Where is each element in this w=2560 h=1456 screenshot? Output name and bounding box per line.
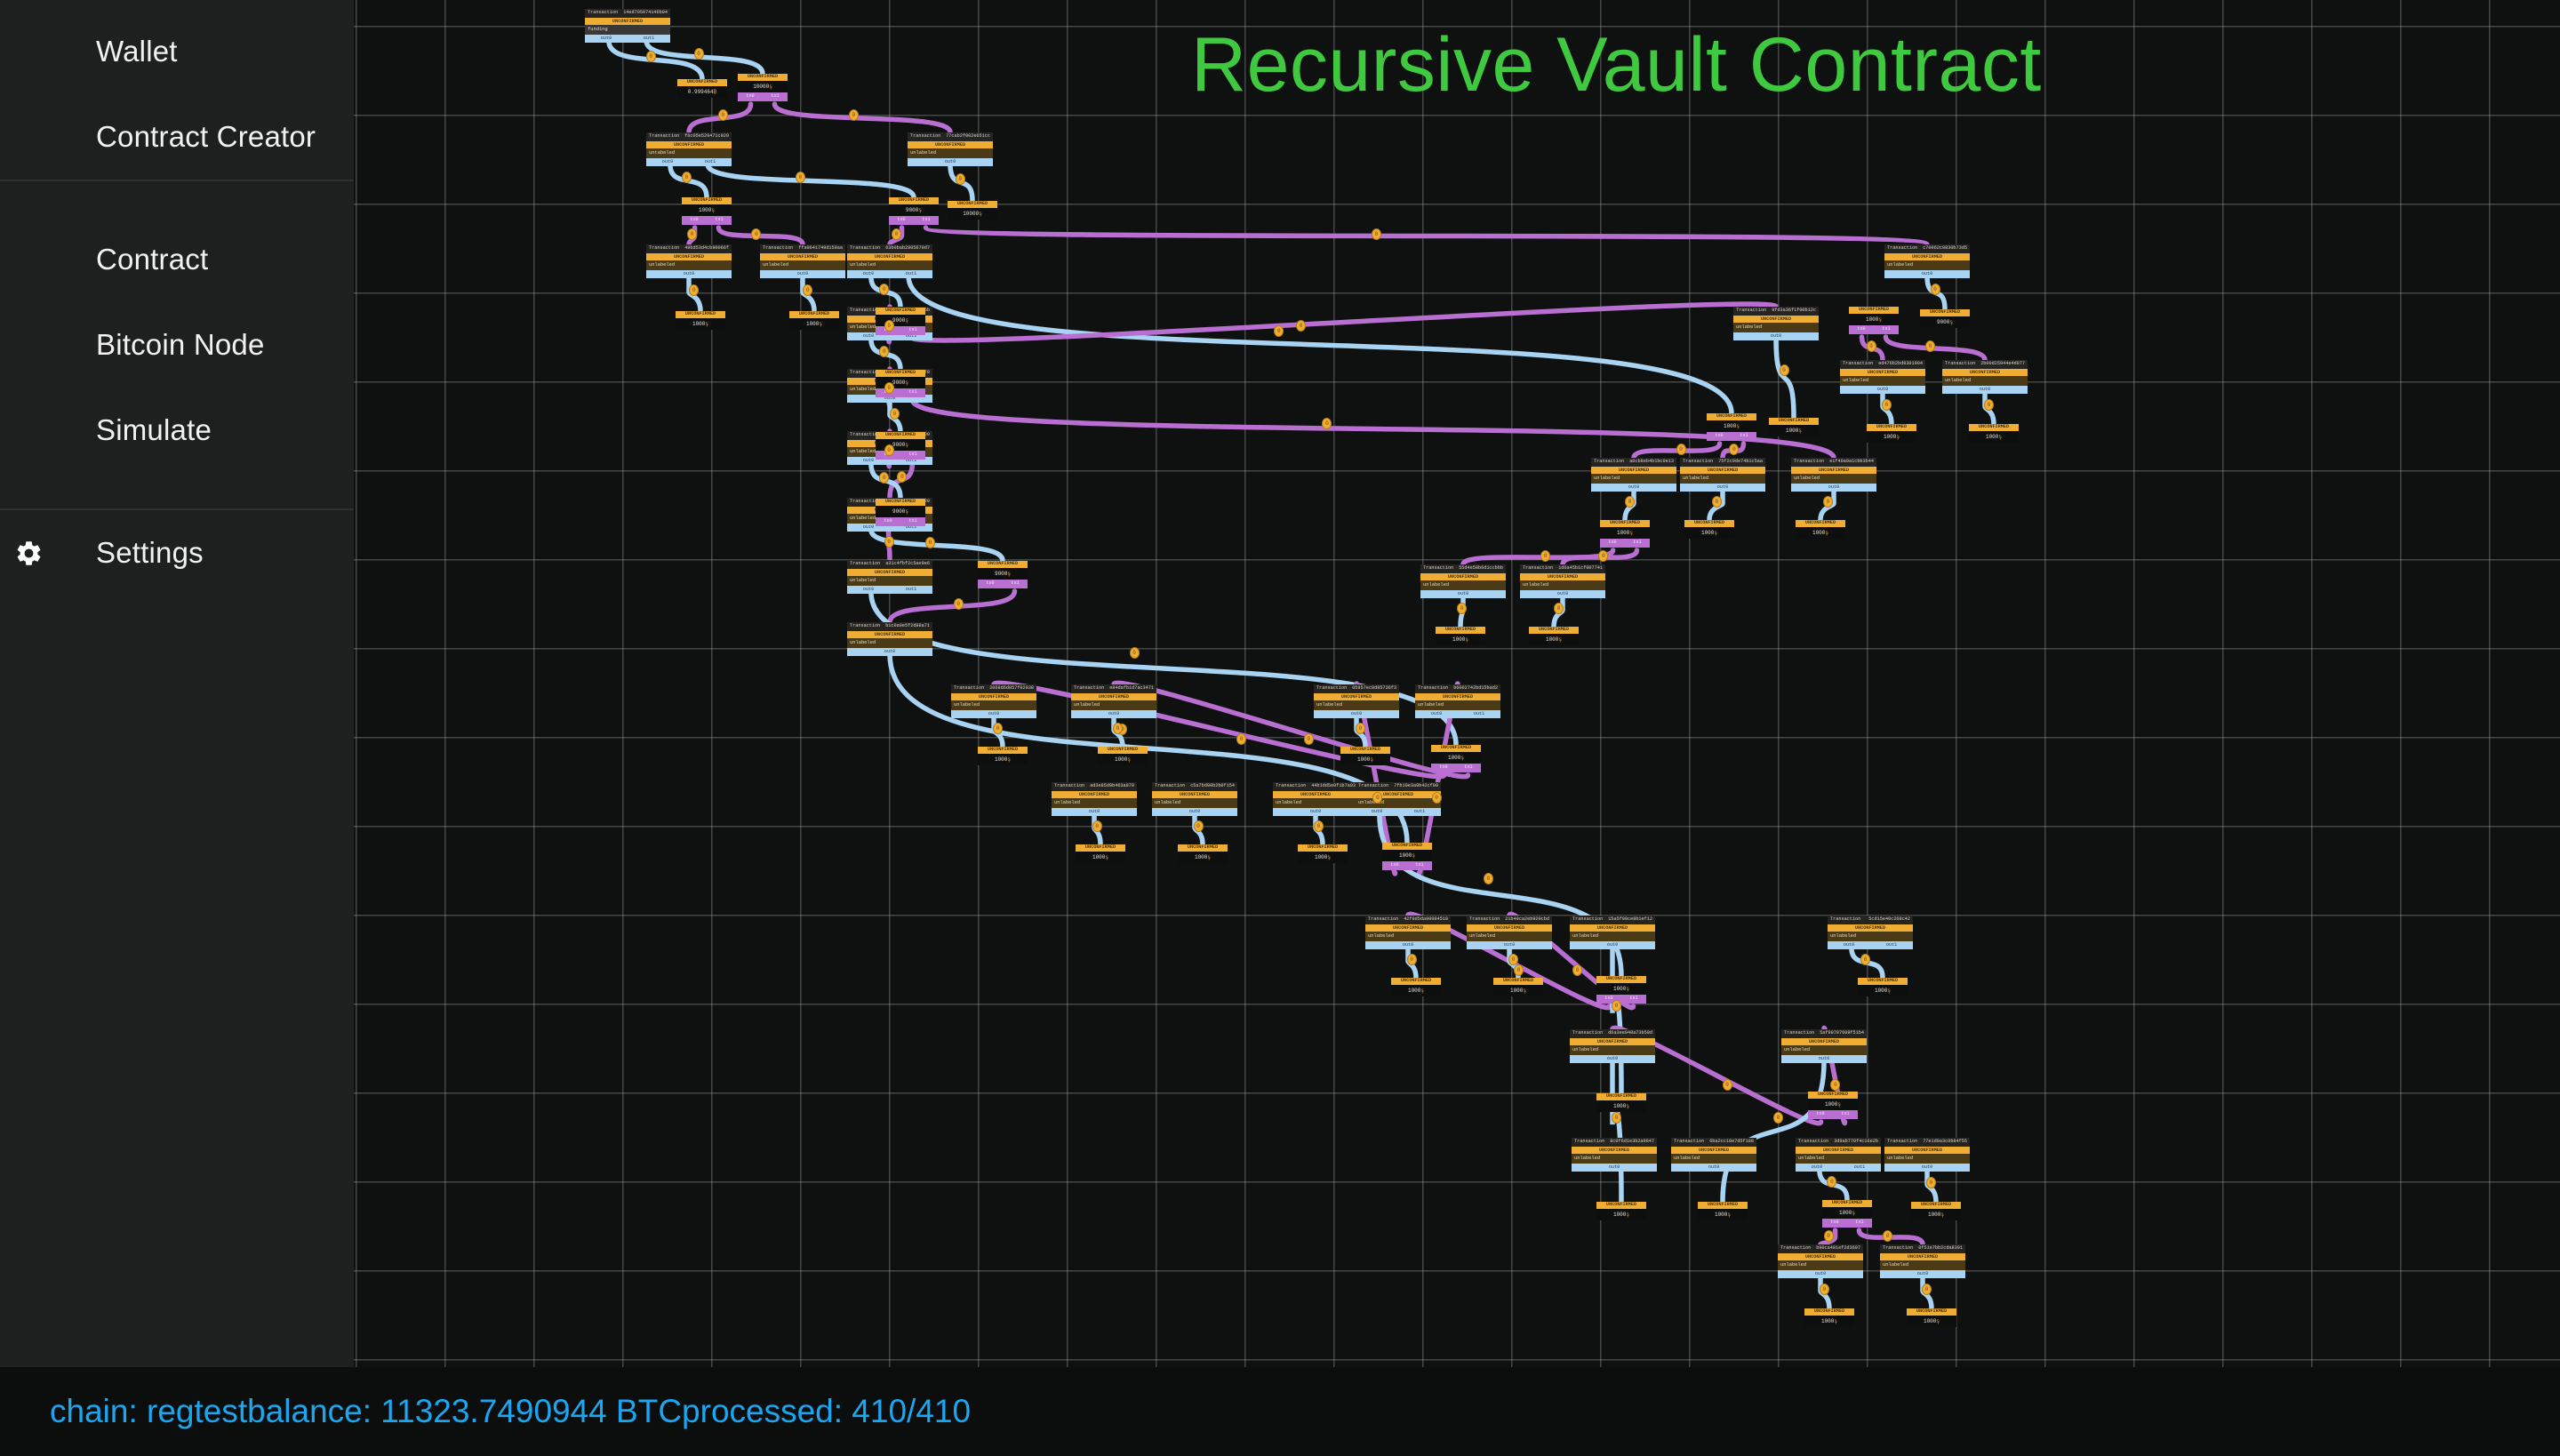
transaction-prefix: Transaction — [1736, 308, 1766, 313]
status-badge: UNCONFIRMED — [1273, 791, 1358, 798]
currency-symbol: ş — [769, 84, 772, 90]
utxo-node[interactable]: UNCONFIRMED1000ştx0tx1 — [1431, 745, 1481, 772]
utxo-amount: 1000 — [806, 321, 819, 327]
utxo-value: 1000ş — [682, 204, 732, 216]
transaction-node[interactable]: Transaction77e1d9a3c0b84f55UNCONFIRMEDun… — [1884, 1138, 1970, 1172]
utxo-node[interactable]: UNCONFIRMED1000ştx0tx1 — [1808, 1092, 1858, 1119]
transaction-node[interactable]: Transaction55d4e58b6d1ccbbbUNCONFIRMEDun… — [1420, 564, 1506, 598]
edge-index-badge: 0 — [1931, 284, 1940, 295]
transaction-header: Transactiona0cb8eb4b1bc0e13 — [1591, 458, 1676, 467]
transaction-header: Transaction8c0f6d1e3b2a9947 — [1572, 1138, 1657, 1147]
transaction-label[interactable]: unlabeled — [1880, 1260, 1965, 1269]
utxo-node[interactable]: UNCONFIRMED1000ş — [1340, 747, 1390, 765]
status-badge: UNCONFIRMED — [1884, 1147, 1970, 1154]
transaction-label[interactable]: funding — [585, 25, 670, 34]
transaction-label[interactable]: unlabeled — [1796, 1154, 1881, 1163]
utxo-node[interactable]: UNCONFIRMED1000ş — [1596, 1093, 1646, 1112]
transaction-label[interactable]: unlabeled — [1420, 580, 1506, 589]
utxo-node[interactable]: UNCONFIRMED9000ştx0tx1 — [978, 561, 1028, 588]
transaction-label[interactable]: unlabeled — [760, 260, 845, 269]
spender-port-0[interactable]: tx0 — [1604, 996, 1612, 1001]
output-port-1[interactable]: out1 — [705, 160, 716, 164]
transaction-label[interactable]: unlabeled — [1415, 700, 1500, 709]
transaction-node[interactable]: Transaction14ed705074146b04UNCONFIRMEDfu… — [585, 9, 670, 43]
transaction-outputs: out0 — [1781, 1055, 1867, 1064]
transaction-outputs: out0 — [1733, 332, 1819, 341]
edge-index-badge: 0 — [1356, 723, 1365, 734]
status-badge: UNCONFIRMED — [1684, 520, 1734, 527]
output-port-0[interactable]: out0 — [863, 334, 874, 339]
transaction-label[interactable]: unlabeled — [646, 260, 732, 269]
transaction-node[interactable]: Transaction49bd53d4cb90066fUNCONFIRMEDun… — [646, 244, 732, 278]
transaction-node[interactable]: Transaction7fb10e3a9b42cf00UNCONFIRMEDun… — [1356, 782, 1441, 816]
sidebar-item-contract-creator[interactable]: Contract Creator — [0, 94, 354, 180]
transaction-label[interactable]: unlabeled — [1840, 376, 1925, 385]
output-port-0[interactable]: out0 — [1771, 334, 1781, 339]
edge-index-badge: 0 — [892, 228, 901, 240]
transaction-label[interactable]: untabeled — [646, 148, 732, 157]
transaction-label[interactable]: unlabeled — [1314, 700, 1399, 709]
edge-index-badge: 0 — [884, 320, 894, 332]
output-port-1[interactable]: out1 — [1886, 943, 1897, 948]
output-port-1[interactable]: out1 — [1474, 712, 1484, 716]
currency-symbol: ş — [1523, 988, 1526, 994]
status-badge: UNCONFIRMED — [951, 693, 1036, 700]
spender-port-0[interactable]: tx0 — [986, 581, 994, 586]
spender-port-0[interactable]: tx0 — [1830, 1220, 1838, 1225]
transaction-label[interactable]: unlabeled — [1052, 798, 1137, 807]
status-badge: UNCONFIRMED — [1098, 747, 1148, 754]
utxo-value: 9000ş — [876, 506, 925, 517]
transaction-prefix: Transaction — [1368, 917, 1398, 922]
transaction-outputs: out0 — [760, 270, 845, 279]
output-port-0[interactable]: out0 — [1922, 1165, 1932, 1170]
utxo-node[interactable]: UNCONFIRMED10000ş — [948, 201, 997, 220]
output-port-0[interactable]: out0 — [1504, 943, 1515, 948]
utxo-value: 1000ş — [1596, 1100, 1646, 1112]
utxo-node[interactable]: UNCONFIRMED1000ştx0tx1 — [1600, 520, 1650, 548]
output-port-0[interactable]: out0 — [684, 272, 694, 276]
utxo-node[interactable]: UNCONFIRMED1000ş — [1391, 978, 1441, 996]
transaction-header: Transactiond6a3ee048a73b50d — [1570, 1029, 1655, 1038]
utxo-amount: 1000 — [1617, 530, 1629, 536]
status-badge: UNCONFIRMED — [1781, 1038, 1867, 1045]
spender-port-1[interactable]: tx1 — [1011, 581, 1019, 586]
utxo-amount: 0.999464 — [688, 89, 714, 95]
utxo-node[interactable]: UNCONFIRMED1000ş — [1529, 627, 1579, 645]
output-port-0[interactable]: out0 — [884, 650, 895, 654]
utxo-value: 9000ş — [889, 204, 939, 216]
transaction-header: Transaction21b49ca2eb920cbd — [1467, 916, 1552, 924]
output-port-0[interactable]: out0 — [1628, 485, 1639, 490]
utxo-value: 0.999464₿ — [677, 86, 727, 98]
utxo-node[interactable]: UNCONFIRMED1000ş — [1969, 424, 2019, 443]
transaction-header: Transaction6ba2cc10e7d5f188 — [1671, 1138, 1756, 1147]
utxo-node[interactable]: UNCONFIRMED9000ştx0tx1 — [876, 432, 925, 460]
transaction-node[interactable]: Transactionf6c05e529471c029UNCONFIRMEDun… — [646, 132, 732, 166]
transaction-node[interactable]: Transaction2068d6d857f02038UNCONFIRMEDun… — [951, 684, 1036, 718]
utxo-node[interactable]: UNCONFIRMED1000ştx0tx1 — [1707, 413, 1756, 441]
status-badge: UNCONFIRMED — [1420, 573, 1506, 580]
output-port-0[interactable]: out0 — [1980, 388, 1990, 392]
output-port-0[interactable]: out0 — [1108, 712, 1119, 716]
edge-index-badge: 0 — [1194, 820, 1204, 832]
transaction-label[interactable]: unlabeled — [1273, 798, 1358, 807]
transaction-label[interactable]: unlabeled — [1942, 376, 2028, 385]
edge-index-badge: 0 — [956, 173, 965, 185]
status-badge: UNCONFIRMED — [1391, 978, 1441, 985]
transaction-node[interactable]: Transaction5af90797609f51b4UNCONFIRMEDun… — [1781, 1029, 1867, 1063]
transaction-node[interactable]: Transaction1d6a45b1cf007741UNCONFIRMEDun… — [1520, 564, 1605, 598]
transaction-header: Transaction05957ec0d85736f3 — [1314, 684, 1399, 693]
transaction-node[interactable]: Transaction44b1dd5e0f1b7a03UNCONFIRMEDun… — [1273, 782, 1358, 816]
transaction-node[interactable]: Transaction75f2c9de74b1c5aaUNCONFIRMEDun… — [1680, 458, 1765, 492]
transaction-label[interactable]: unlabeled — [1680, 474, 1765, 483]
utxo-amount: 1000 — [692, 321, 705, 327]
transaction-header: Transaction63b0bab2805670d7 — [847, 244, 932, 253]
utxo-node[interactable]: UNCONFIRMED1000ştx0tx1 — [1596, 976, 1646, 1004]
output-port-0[interactable]: out0 — [1812, 1165, 1822, 1170]
spender-port-1[interactable]: tx1 — [771, 94, 779, 99]
edge-index-badge: 0 — [1612, 1112, 1621, 1124]
transaction-label[interactable]: unlabeled — [847, 260, 932, 269]
output-port-0[interactable]: out0 — [1431, 712, 1442, 716]
transaction-node[interactable]: Transactionb6002742bd15bad2UNCONFIRMEDun… — [1415, 684, 1500, 718]
spender-port-0[interactable]: tx0 — [1439, 765, 1447, 770]
transaction-hash: c70962c0830b73d5 — [1923, 246, 1967, 251]
currency-symbol: ş — [1896, 434, 1900, 440]
transaction-header: Transaction14ed705074146b04 — [585, 9, 670, 18]
transaction-label[interactable]: unlabeled — [1781, 1045, 1867, 1054]
transaction-node[interactable]: Transactiona31c4fbf2c5ae9e6UNCONFIRMEDun… — [847, 560, 932, 594]
edge-index-badge: 0 — [1372, 228, 1381, 240]
status-badge: UNCONFIRMED — [1867, 424, 1916, 431]
edge-index-badge: 0 — [694, 48, 704, 60]
utxo-node[interactable]: UNCONFIRMED1000ş — [1698, 1202, 1748, 1220]
sidebar-item-wallet[interactable]: Wallet — [0, 9, 354, 94]
status-badge: UNCONFIRMED — [1314, 693, 1399, 700]
transaction-node[interactable]: Transactionc70962c0830b73d5UNCONFIRMEDun… — [1884, 244, 1970, 278]
spender-port-0[interactable]: tx0 — [690, 218, 698, 222]
status-badge: UNCONFIRMED — [1572, 1147, 1657, 1154]
transaction-hash: e1f40a9a1cbb3b44 — [1829, 460, 1874, 464]
output-port-0[interactable]: out0 — [863, 459, 874, 463]
utxo-amount: 1000 — [1452, 636, 1465, 643]
utxo-node[interactable]: UNCONFIRMED1000ştx0tx1 — [1382, 843, 1432, 870]
output-port-0[interactable]: out0 — [863, 272, 874, 276]
output-port-1[interactable]: out1 — [1414, 810, 1425, 814]
transaction-outputs: out0 — [1791, 484, 1876, 492]
transaction-node[interactable]: Transaction5cd15e40c268c42UNCONFIRMEDunl… — [1828, 916, 1913, 949]
output-port-0[interactable]: out0 — [1607, 1057, 1618, 1061]
output-port-0[interactable]: out0 — [1844, 943, 1854, 948]
transaction-outputs: out0 — [1778, 1270, 1863, 1279]
spend-edge — [912, 304, 1776, 340]
transaction-hash: ed476b2bd8301904 — [1878, 362, 1923, 366]
utxo-node[interactable]: UNCONFIRMED1000ş — [1493, 978, 1543, 996]
edge-index-badge: 0 — [890, 408, 900, 420]
spender-port-0[interactable]: tx0 — [1857, 327, 1865, 332]
spender-port-0[interactable]: tx0 — [897, 218, 905, 222]
transaction-node[interactable]: Transaction6ba2cc10e7d5f188UNCONFIRMEDun… — [1671, 1138, 1756, 1172]
spender-port-1[interactable]: tx1 — [1464, 765, 1472, 770]
transaction-label[interactable]: unlabeled — [847, 638, 932, 647]
transaction-node[interactable]: Transactionb90ca481ef2d3607UNCONFIRMEDun… — [1778, 1244, 1863, 1278]
transaction-node[interactable]: Transaction3d9ab770f4c16e2bUNCONFIRMEDun… — [1796, 1138, 1881, 1172]
utxo-node[interactable]: UNCONFIRMED1000ş — [1867, 424, 1916, 443]
currency-symbol: ş — [1940, 1212, 1944, 1218]
transaction-label[interactable]: unlabeled — [1572, 1154, 1657, 1163]
transaction-node[interactable]: Transaction15a5f99ce8b1ef12UNCONFIRMEDun… — [1570, 916, 1655, 949]
edge-index-badge: 0 — [718, 109, 728, 121]
transaction-node[interactable]: Transaction8c0f6d1e3b2a9947UNCONFIRMEDun… — [1572, 1138, 1657, 1172]
output-port-0[interactable]: out0 — [1917, 1272, 1928, 1276]
spender-port-1[interactable]: tx1 — [1633, 540, 1641, 545]
output-port-0[interactable]: out0 — [1609, 1165, 1620, 1170]
status-badge: UNCONFIRMED — [1808, 1092, 1858, 1099]
transaction-label[interactable]: unlabeled — [1071, 700, 1156, 709]
utxo-node[interactable]: UNCONFIRMED1000ş — [789, 311, 839, 330]
output-port-0[interactable]: out0 — [1877, 388, 1888, 392]
transaction-label[interactable]: unlabeled — [1778, 1260, 1863, 1269]
transaction-prefix: Transaction — [1683, 460, 1713, 464]
output-port-0[interactable]: out0 — [945, 160, 956, 164]
spender-port-1[interactable]: tx1 — [715, 218, 723, 222]
utxo-node[interactable]: UNCONFIRMED1000ş — [1076, 844, 1125, 863]
utxo-node[interactable]: UNCONFIRMED1000ş — [1298, 844, 1348, 863]
utxo-node[interactable]: UNCONFIRMED1000ş — [1911, 1202, 1961, 1220]
utxo-amount: 1000 — [699, 207, 711, 213]
transaction-header: Transaction15a5f99ce8b1ef12 — [1570, 916, 1655, 924]
spender-port-1[interactable]: tx1 — [908, 519, 916, 524]
spender-port-1[interactable]: tx1 — [1841, 1112, 1849, 1116]
output-port-0[interactable]: out0 — [1403, 943, 1413, 948]
spender-port-1[interactable]: tx1 — [922, 218, 930, 222]
spender-port-0[interactable]: tx0 — [746, 94, 754, 99]
transaction-node[interactable]: Transactionffa0641749d159aaUNCONFIRMEDun… — [760, 244, 845, 278]
utxo-value: 1000ş — [1707, 420, 1756, 432]
utxo-node[interactable]: UNCONFIRMED1000ş — [1769, 418, 1819, 436]
transaction-prefix: Transaction — [1674, 1140, 1704, 1144]
transaction-hash: 77e1d9a3c0b84f55 — [1923, 1140, 1967, 1144]
spender-port-1[interactable]: tx1 — [1415, 863, 1423, 868]
transaction-node[interactable]: Transaction2b00d25944e4d977UNCONFIRMEDun… — [1942, 360, 2028, 394]
utxo-node[interactable]: UNCONFIRMED9000ş — [1920, 309, 1970, 328]
transaction-label[interactable]: unlabeled — [1671, 1154, 1756, 1163]
output-port-0[interactable]: out0 — [1372, 810, 1382, 814]
transaction-node[interactable]: Transactiona0cb8eb4b1bc0e13UNCONFIRMEDun… — [1591, 458, 1676, 492]
transaction-label[interactable]: unlabeled — [847, 576, 932, 585]
output-port-1[interactable]: out1 — [906, 588, 916, 592]
currency-symbol: ş — [1736, 423, 1740, 429]
spender-port-0[interactable]: tx0 — [1608, 540, 1616, 545]
output-port-0[interactable]: out0 — [1717, 485, 1728, 490]
output-port-0[interactable]: out0 — [1815, 1272, 1826, 1276]
utxo-node[interactable]: UNCONFIRMED1000ş — [1178, 844, 1228, 863]
utxo-node[interactable]: UNCONFIRMED1000ş — [1596, 1202, 1646, 1220]
utxo-node[interactable]: UNCONFIRMED1000ştx0tx1 — [1849, 307, 1899, 334]
transaction-node[interactable]: Transactionc5a7bd00b2b0f154UNCONFIRMEDun… — [1152, 782, 1237, 816]
status-badge: UNCONFIRMED — [1596, 1093, 1646, 1100]
transaction-hash: 55d4e58b6d1ccbbb — [1459, 566, 1503, 571]
output-port-0[interactable]: out0 — [1351, 712, 1362, 716]
output-port-0[interactable]: out0 — [662, 160, 673, 164]
sidebar-item-simulate[interactable]: Simulate — [0, 388, 354, 473]
status-badge: UNCONFIRMED — [889, 197, 939, 204]
currency-symbol: ş — [979, 211, 982, 217]
currency-symbol: ş — [1852, 1210, 1855, 1216]
output-port-0[interactable]: out0 — [1557, 592, 1568, 596]
transaction-label[interactable]: unlabeled — [1570, 1045, 1655, 1054]
spender-port-1[interactable]: tx1 — [1740, 434, 1748, 438]
spender-port-1[interactable]: tx1 — [1855, 1220, 1863, 1225]
transaction-node[interactable]: Transactiond6a3ee048a73b50dUNCONFIRMEDun… — [1570, 1029, 1655, 1063]
spender-port-0[interactable]: tx0 — [1816, 1112, 1824, 1116]
utxo-node[interactable]: UNCONFIRMED1000ş — [978, 747, 1028, 765]
output-port-0[interactable]: out0 — [988, 712, 999, 716]
sidebar-item-settings[interactable]: Settings — [0, 510, 354, 596]
utxo-node[interactable]: UNCONFIRMED10000ştx0tx1 — [738, 74, 788, 101]
utxo-node[interactable]: UNCONFIRMED1000ş — [1436, 627, 1485, 645]
spender-port-0[interactable]: tx0 — [884, 519, 892, 524]
transaction-hash: ad3e85d9b463a979 — [1090, 784, 1134, 788]
status-badge: UNCONFIRMED — [1570, 1038, 1655, 1045]
utxo-node[interactable]: UNCONFIRMED1000ş — [1858, 978, 1908, 996]
utxo-node[interactable]: UNCONFIRMED9000ştx0tx1 — [889, 197, 939, 225]
utxo-value: 9000ş — [876, 377, 925, 388]
spender-port-1[interactable]: tx1 — [908, 390, 916, 395]
transaction-label[interactable]: unlabeled — [1365, 932, 1451, 940]
spender-port-0[interactable]: tx0 — [1390, 863, 1398, 868]
transaction-header: Transaction7fb10e3a9b42cf00 — [1356, 782, 1441, 791]
output-port-1[interactable]: out1 — [906, 272, 916, 276]
status-badge: UNCONFIRMED — [1942, 369, 2028, 376]
spender-port-1[interactable]: tx1 — [1629, 996, 1637, 1001]
utxo-node[interactable]: UNCONFIRMED1000ştx0tx1 — [1822, 1200, 1872, 1228]
transaction-label[interactable]: unlabeled — [1791, 474, 1876, 483]
utxo-amount: 1000 — [1928, 1212, 1940, 1218]
transaction-label[interactable]: unlabeled — [1828, 932, 1913, 940]
output-port-0[interactable]: out0 — [1819, 1057, 1829, 1061]
utxo-amount: 1000 — [1884, 434, 1896, 440]
transaction-label[interactable]: unlabeled — [1570, 932, 1655, 940]
transaction-node[interactable]: Transactionad3e85d9b463a979UNCONFIRMEDun… — [1052, 782, 1137, 816]
sidebar-item-bitcoin-node[interactable]: Bitcoin Node — [0, 302, 354, 388]
status-badge: UNCONFIRMED — [1707, 413, 1756, 420]
transaction-label[interactable]: unlabeled — [951, 700, 1036, 709]
utxo-node[interactable]: UNCONFIRMED1000ş — [1684, 520, 1734, 539]
currency-symbol: ş — [1127, 756, 1131, 763]
output-port-0[interactable]: out0 — [1089, 810, 1100, 814]
utxo-node[interactable]: UNCONFIRMED9000ştx0tx1 — [876, 308, 925, 335]
transaction-node[interactable]: Transactionb1c0a0e5f2d88a71UNCONFIRMEDun… — [847, 622, 932, 656]
spender-port-1[interactable]: tx1 — [1882, 327, 1890, 332]
graph-canvas[interactable]: Transaction14ed705074146b04UNCONFIRMEDfu… — [354, 0, 2560, 1367]
transaction-label[interactable]: unlabeled — [908, 148, 993, 157]
transaction-header: Transactionc70962c0830b73d5 — [1884, 244, 1970, 253]
status-badge: UNCONFIRMED — [876, 370, 925, 377]
transaction-label[interactable]: unlabeled — [1591, 474, 1676, 483]
output-port-0[interactable]: out0 — [1607, 943, 1618, 948]
output-port-0[interactable]: out0 — [863, 525, 874, 530]
transaction-outputs: out0 — [1572, 1164, 1657, 1172]
transaction-prefix: Transaction — [850, 246, 880, 251]
transaction-prefix: Transaction — [649, 246, 679, 251]
output-port-0[interactable]: out0 — [1828, 485, 1839, 490]
output-port-0[interactable]: out0 — [1458, 592, 1468, 596]
spender-port-0[interactable]: tx0 — [1715, 434, 1723, 438]
utxo-node[interactable]: UNCONFIRMED1000ş — [676, 311, 725, 330]
transaction-label[interactable]: unlabeled — [1520, 580, 1605, 589]
output-port-1[interactable]: out1 — [644, 36, 654, 41]
utxo-amount: 1000 — [1825, 1101, 1837, 1108]
transaction-node[interactable]: Transactione84dafb1d7ac3471UNCONFIRMEDun… — [1071, 684, 1156, 718]
transaction-node[interactable]: Transaction9fd3a36f1f00b12cUNCONFIRMEDun… — [1733, 307, 1819, 340]
output-port-0[interactable]: out0 — [1708, 1165, 1719, 1170]
status-badge: UNCONFIRMED — [1733, 316, 1819, 323]
status-bar: chain: regtestbalance: 11323.7490944 BTC… — [0, 1367, 2560, 1456]
sidebar-item-contract[interactable]: Contract — [0, 217, 354, 302]
currency-symbol: ş — [905, 317, 908, 324]
transaction-node[interactable]: Transactione1f40a9a1cbb3b44UNCONFIRMEDun… — [1791, 458, 1876, 492]
transaction-node[interactable]: Transaction05957ec0d85736f3UNCONFIRMEDun… — [1314, 684, 1399, 718]
output-port-0[interactable]: out0 — [1189, 810, 1200, 814]
transaction-label[interactable]: unlabeled — [1884, 1154, 1970, 1163]
transaction-label[interactable]: unlabeled — [1884, 260, 1970, 269]
output-port-0[interactable]: out0 — [1922, 272, 1932, 276]
utxo-node[interactable]: UNCONFIRMED1000ştx0tx1 — [682, 197, 732, 225]
status-badge: UNCONFIRMED — [585, 18, 670, 25]
output-port-0[interactable]: out0 — [1310, 810, 1321, 814]
transaction-header: Transaction75f2c9de74b1c5aa — [1680, 458, 1765, 467]
output-port-0[interactable]: out0 — [863, 588, 874, 592]
edge-index-badge: 0 — [1113, 723, 1123, 734]
status-badge: UNCONFIRMED — [978, 747, 1028, 754]
transaction-outputs: out0out1 — [847, 270, 932, 279]
edge-index-badge: 0 — [1322, 418, 1332, 429]
output-port-0[interactable]: out0 — [797, 272, 808, 276]
utxo-spenders: tx0tx1 — [876, 451, 925, 460]
transaction-node[interactable]: Transaction63b0bab2805670d7UNCONFIRMEDun… — [847, 244, 932, 278]
utxo-node[interactable]: UNCONFIRMED9000ştx0tx1 — [876, 499, 925, 526]
transaction-label[interactable]: unlabeled — [1356, 798, 1441, 807]
currency-symbol: ş — [1887, 988, 1891, 994]
transaction-label[interactable]: unlabeled — [1733, 323, 1819, 332]
spender-port-1[interactable]: tx1 — [908, 328, 916, 332]
transaction-node[interactable]: Transaction77cab2f002e651ccUNCONFIRMEDun… — [908, 132, 993, 166]
output-port-0[interactable]: out0 — [601, 36, 612, 41]
transaction-header: Transactionf6c05e529471c029 — [646, 132, 732, 141]
transaction-node[interactable]: Transactioned476b2bd8301904UNCONFIRMEDun… — [1840, 360, 1925, 394]
spender-port-1[interactable]: tx1 — [908, 452, 916, 457]
utxo-node[interactable]: UNCONFIRMED1000ş — [1796, 520, 1845, 539]
transaction-header: Transaction9fd3a36f1f00b12c — [1733, 307, 1819, 316]
currency-symbol: ş — [1626, 1212, 1629, 1218]
utxo-node[interactable]: UNCONFIRMED0.999464₿ — [677, 79, 727, 98]
utxo-node[interactable]: UNCONFIRMED1000ş — [1907, 1308, 1956, 1327]
sidebar-group-primary: Wallet Contract Creator — [0, 9, 354, 181]
transaction-node[interactable]: Transaction42f0d5da90084518UNCONFIRMEDun… — [1365, 916, 1451, 949]
transaction-node[interactable]: Transaction21b49ca2eb920cbdUNCONFIRMEDun… — [1467, 916, 1552, 949]
transaction-label[interactable]: unlabeled — [1152, 798, 1237, 807]
utxo-node[interactable]: UNCONFIRMED1000ş — [1804, 1308, 1854, 1327]
utxo-node[interactable]: UNCONFIRMED1000ş — [1098, 747, 1148, 765]
transaction-label[interactable]: unlabeled — [1467, 932, 1552, 940]
output-port-1[interactable]: out1 — [1854, 1165, 1865, 1170]
status-badge: UNCONFIRMED — [1298, 844, 1348, 852]
utxo-node[interactable]: UNCONFIRMED9000ştx0tx1 — [876, 370, 925, 397]
transaction-node[interactable]: Transaction0f51e7bb2cda8391UNCONFIRMEDun… — [1880, 1244, 1965, 1278]
